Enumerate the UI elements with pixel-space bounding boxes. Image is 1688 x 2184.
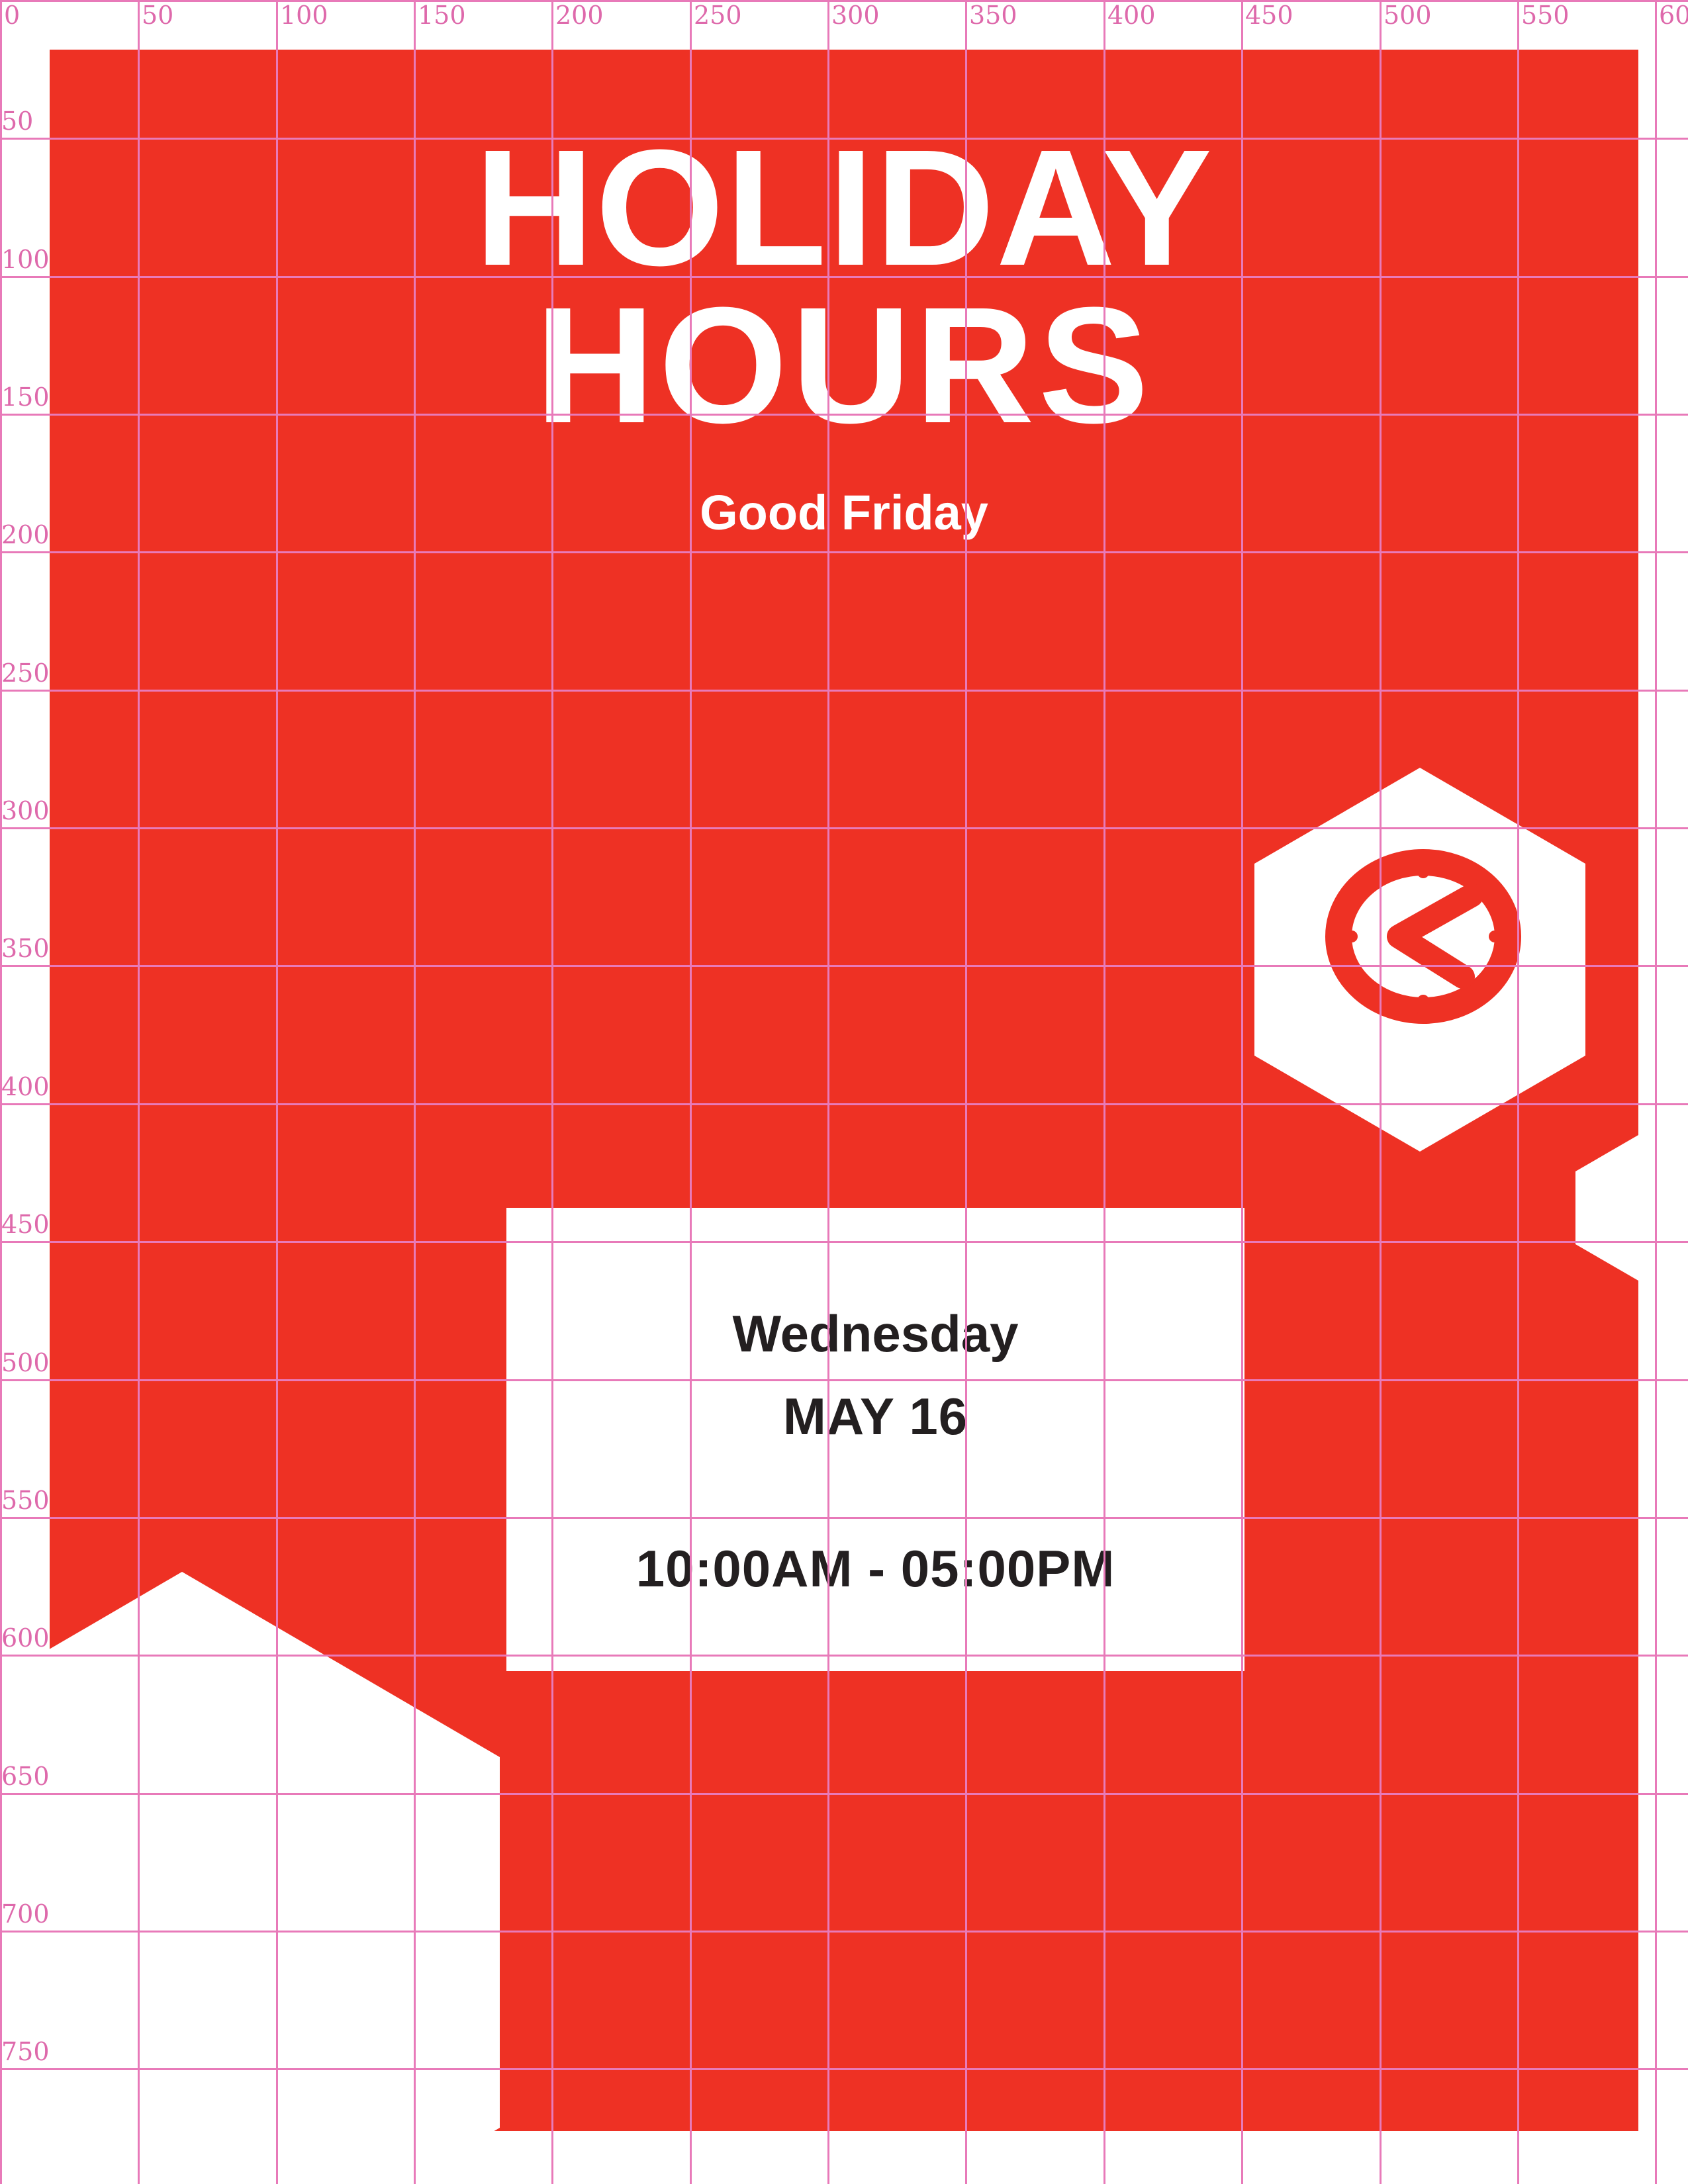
hexagon-icon [1575, 1135, 1638, 1281]
info-card: Wednesday MAY 16 10:00AM - 05:00PM [506, 1208, 1244, 1671]
y-axis-tick-label: 300 [1, 798, 50, 823]
gridline-horizontal [0, 0, 1688, 2]
x-axis-tick-label: 0 [4, 3, 20, 28]
x-axis-tick-label: 350 [969, 3, 1017, 28]
x-axis-tick-label: 250 [694, 3, 742, 28]
x-axis-tick-label: 550 [1521, 3, 1570, 28]
gridline-vertical [1655, 0, 1657, 2184]
poster-subheading: Good Friday [50, 484, 1638, 541]
y-axis-tick-label: 600 [1, 1625, 50, 1651]
x-axis-tick-label: 400 [1107, 3, 1156, 28]
info-card-day: Wednesday [506, 1304, 1244, 1364]
y-axis-tick-label: 700 [1, 1901, 50, 1927]
gridline-vertical [0, 0, 2, 2184]
x-axis-tick-label: 450 [1245, 3, 1293, 28]
y-axis-tick-label: 550 [1, 1488, 50, 1513]
headline-line-1: HOLIDAY [50, 129, 1638, 287]
y-axis-tick-label: 200 [1, 522, 50, 547]
y-axis-tick-label: 500 [1, 1350, 50, 1375]
x-axis-tick-label: 100 [280, 3, 328, 28]
y-axis-tick-label: 750 [1, 2039, 50, 2064]
screenshot-canvas: HOLIDAY HOURS Good Friday [0, 0, 1688, 2184]
y-axis-tick-label: 250 [1, 660, 50, 686]
x-axis-tick-label: 50 [142, 3, 173, 28]
x-axis-tick-label: 300 [831, 3, 880, 28]
x-axis-tick-label: 600 [1659, 3, 1688, 28]
x-axis-tick-label: 200 [555, 3, 604, 28]
x-axis-tick-label: 150 [418, 3, 466, 28]
hexagon-icon [50, 1572, 500, 2131]
y-axis-tick-label: 150 [1, 385, 50, 410]
headline-line-2: HOURS [50, 287, 1638, 444]
y-axis-tick-label: 350 [1, 936, 50, 961]
clock-icon [1324, 847, 1523, 1026]
y-axis-tick-label: 450 [1, 1212, 50, 1237]
poster-background: HOLIDAY HOURS Good Friday [50, 50, 1638, 2131]
y-axis-tick-label: 100 [1, 247, 50, 272]
y-axis-tick-label: 50 [1, 109, 33, 134]
info-card-hours: 10:00AM - 05:00PM [506, 1539, 1244, 1599]
y-axis-tick-label: 650 [1, 1764, 50, 1789]
x-axis-tick-label: 500 [1383, 3, 1432, 28]
info-card-date: MAY 16 [506, 1387, 1244, 1447]
y-axis-tick-label: 400 [1, 1074, 50, 1099]
poster-headline: HOLIDAY HOURS Good Friday [50, 129, 1638, 541]
